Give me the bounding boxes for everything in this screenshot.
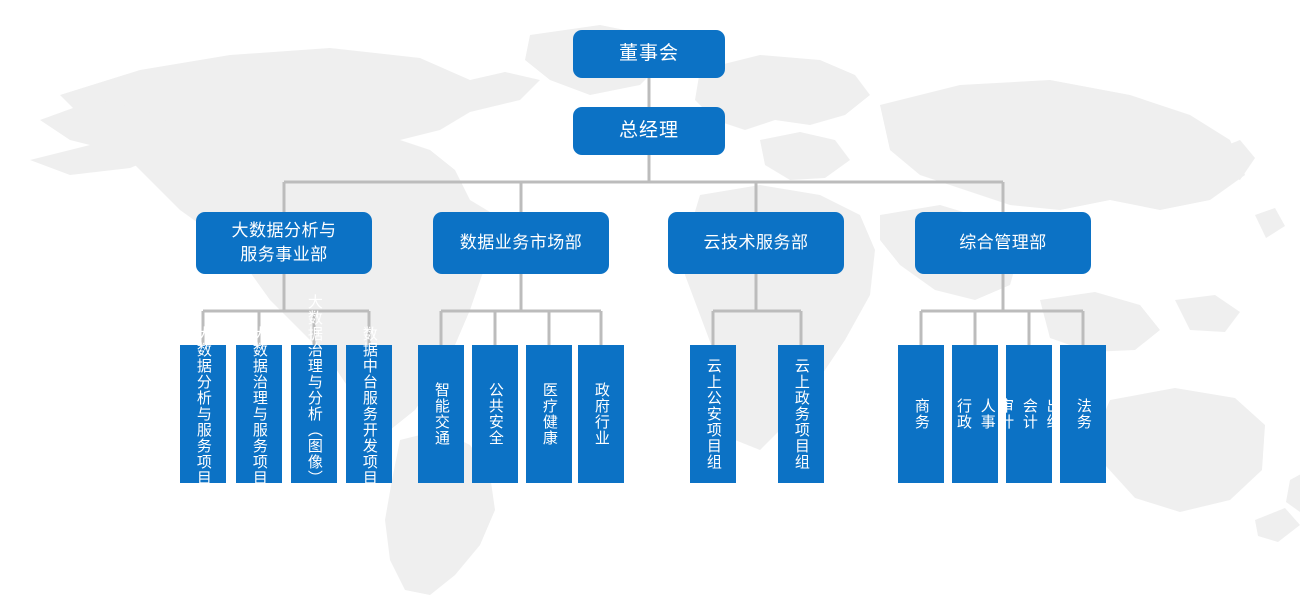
node-team-public-security[interactable]: 公共安全 — [472, 345, 518, 483]
node-team-legal-affairs[interactable]: 法务 — [1060, 345, 1106, 483]
node-team-bd-analysis-service-group[interactable]: 大数据分析与服务项目组 — [180, 345, 226, 483]
node-team-audit-accounting-cashier[interactable]: 审计会计出纳 — [1006, 345, 1052, 483]
node-label: 总经理 — [619, 118, 679, 144]
node-team-bd-governance-analysis-image-group[interactable]: 大数据治理与分析（图像）项目组 — [291, 345, 337, 483]
node-label: 综合管理部 — [959, 231, 1047, 255]
node-department-data-market[interactable]: 数据业务市场部 — [433, 212, 609, 274]
node-label: 云上公安项目组 — [702, 358, 724, 470]
node-team-government-industry[interactable]: 政府行业 — [578, 345, 624, 483]
node-team-business-affairs[interactable]: 商务 — [898, 345, 944, 483]
node-team-medical-health[interactable]: 医疗健康 — [526, 345, 572, 483]
node-label: 法务 — [1072, 398, 1094, 430]
node-label: 大数据治理与分析（图像）项目组 — [303, 294, 325, 534]
node-label-column: 审计 — [994, 398, 1016, 430]
node-board-of-directors[interactable]: 董事会 — [573, 30, 725, 78]
node-department-bigdata-analysis[interactable]: 大数据分析与 服务事业部 — [196, 212, 372, 274]
node-label: 数据业务市场部 — [460, 231, 583, 255]
node-label: 医疗健康 — [538, 382, 560, 446]
node-department-general-admin[interactable]: 综合管理部 — [915, 212, 1091, 274]
node-team-smart-transport[interactable]: 智能交通 — [418, 345, 464, 483]
node-label: 云技术服务部 — [704, 231, 809, 255]
node-label: 数据中台服务开发项目组 — [358, 326, 380, 502]
node-label: 大数据分析与服务项目组 — [192, 326, 214, 502]
node-label-column: 行政 — [952, 398, 974, 430]
node-label: 智能交通 — [430, 382, 452, 446]
nodes-layer: 董事会 总经理 大数据分析与 服务事业部数据业务市场部云技术服务部综合管理部 大… — [0, 0, 1300, 603]
node-label: 大数据治理与服务项目组 — [248, 326, 270, 502]
node-team-cloud-police-group[interactable]: 云上公安项目组 — [690, 345, 736, 483]
node-team-data-midplatform-dev-group[interactable]: 数据中台服务开发项目组 — [346, 345, 392, 483]
node-department-cloud-service[interactable]: 云技术服务部 — [668, 212, 844, 274]
node-label: 政府行业 — [590, 382, 612, 446]
node-label: 审计会计出纳 — [994, 357, 1063, 471]
node-label: 云上政务项目组 — [790, 358, 812, 470]
node-team-admin-hr[interactable]: 行政人事 — [952, 345, 998, 483]
org-chart-canvas: 董事会 总经理 大数据分析与 服务事业部数据业务市场部云技术服务部综合管理部 大… — [0, 0, 1300, 603]
node-label: 商务 — [910, 398, 932, 430]
node-label-column: 会计 — [1018, 398, 1040, 430]
node-team-bd-governance-service-group[interactable]: 大数据治理与服务项目组 — [236, 345, 282, 483]
node-label: 公共安全 — [484, 382, 506, 446]
node-label: 董事会 — [619, 41, 679, 67]
node-label: 大数据分析与 服务事业部 — [232, 219, 337, 267]
node-team-cloud-government-group[interactable]: 云上政务项目组 — [778, 345, 824, 483]
node-label: 行政人事 — [952, 357, 998, 471]
node-general-manager[interactable]: 总经理 — [573, 107, 725, 155]
